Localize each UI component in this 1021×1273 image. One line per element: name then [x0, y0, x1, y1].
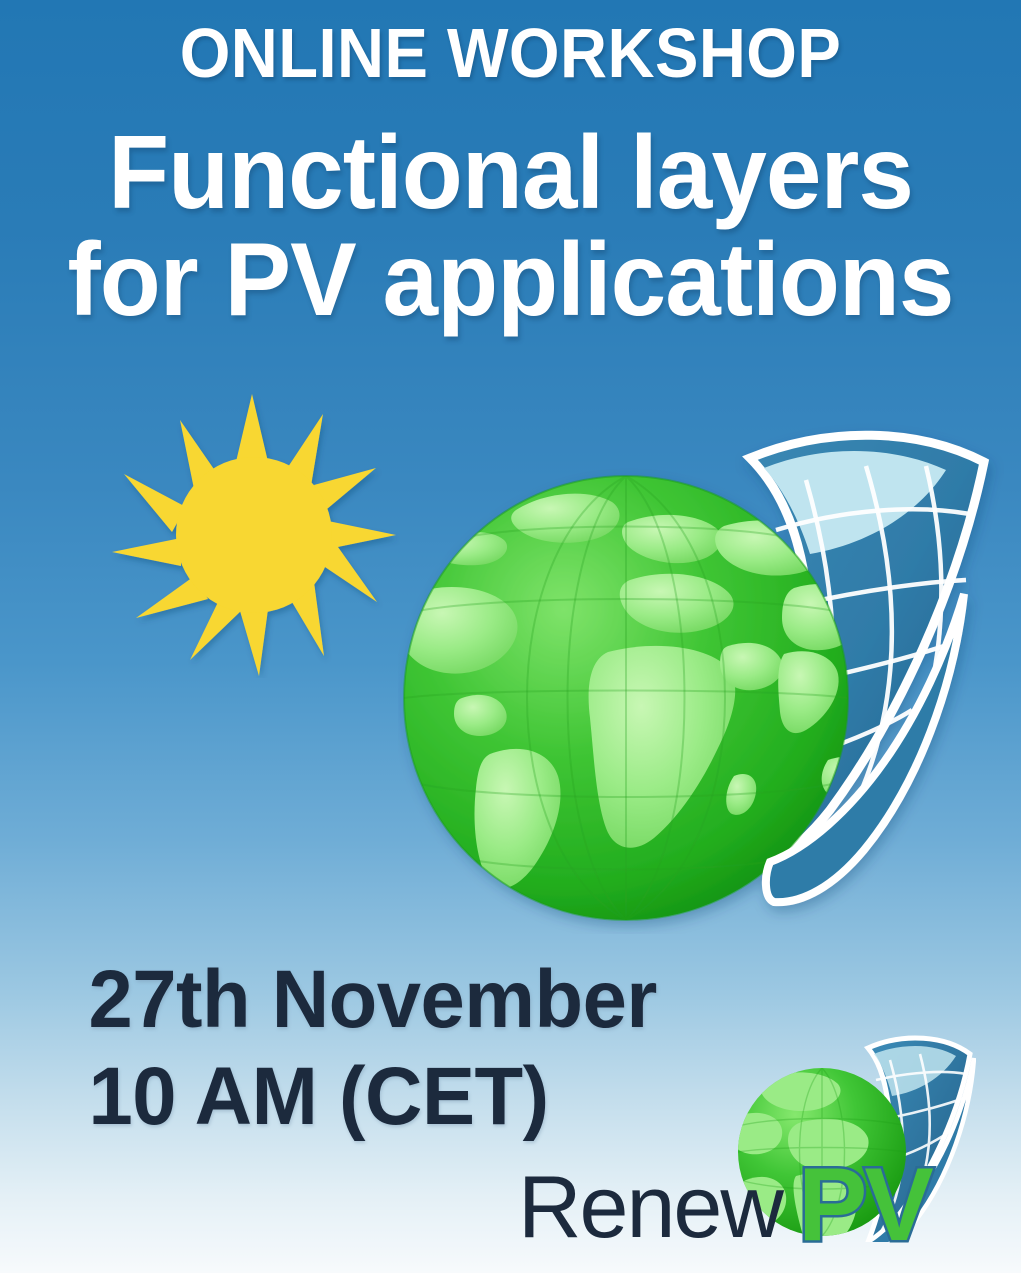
eyebrow-label: ONLINE WORKSHOP	[36, 18, 986, 89]
logo-word-renew: Renew	[518, 1163, 782, 1251]
logo-wordmark: Renew PV	[518, 1155, 1021, 1251]
globe-solar-panel-artwork	[398, 418, 1006, 934]
headline-block: ONLINE WORKSHOP Functional layers for PV…	[0, 0, 1021, 338]
page-title-line-2: for PV applications	[20, 222, 1000, 338]
sun-icon	[104, 392, 400, 678]
renewpv-logo: Renew PV	[500, 1030, 1021, 1273]
page-title-line-1: Functional layers	[20, 115, 1000, 231]
poster-canvas: ONLINE WORKSHOP Functional layers for PV…	[0, 0, 1021, 1273]
logo-word-pv: PV	[798, 1153, 931, 1257]
